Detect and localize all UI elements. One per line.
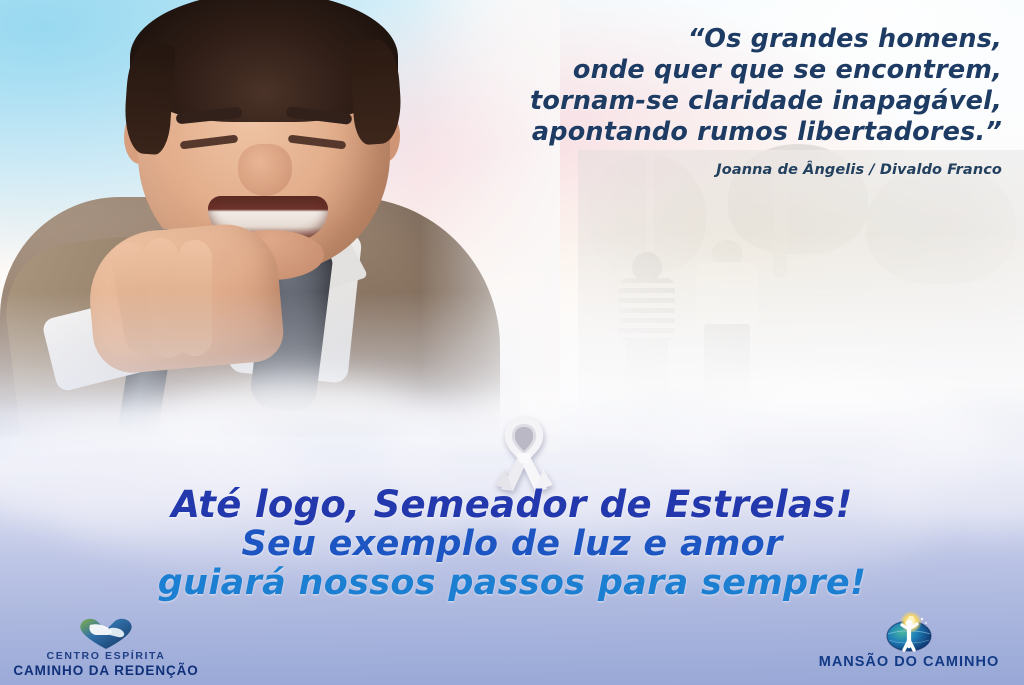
heart-hands-icon xyxy=(77,616,135,650)
tribute-message: Até logo, Semeador de Estrelas! Seu exem… xyxy=(0,485,1024,603)
logo-centro-espirita[interactable]: CENTRO ESPÍRITA CAMINHO DA REDENÇÃO xyxy=(8,616,204,679)
globe-figure-icon xyxy=(882,610,936,654)
quote-line-1: “Os grandes homens, xyxy=(312,24,1002,55)
message-line-3: guiará nossos passos para sempre! xyxy=(0,563,1024,603)
quote-block: “Os grandes homens, onde quer que se enc… xyxy=(312,24,1002,178)
message-line-1: Até logo, Semeador de Estrelas! xyxy=(0,485,1024,525)
quote-line-2: onde quer que se encontrem, xyxy=(312,55,1002,86)
white-ribbon-icon xyxy=(487,409,561,491)
logo-right-line-1: MANSÃO DO CAMINHO xyxy=(804,654,1014,670)
logo-left-line-2: CAMINHO DA REDENÇÃO xyxy=(8,663,204,679)
logo-left-line-1: CENTRO ESPÍRITA xyxy=(8,650,204,663)
quote-line-3: tornam-se claridade inapagável, xyxy=(312,86,1002,117)
message-line-2: Seu exemplo de luz e amor xyxy=(0,525,1024,563)
quote-attribution: Joanna de Ângelis / Divaldo Franco xyxy=(312,162,1002,178)
logo-mansao-do-caminho[interactable]: MANSÃO DO CAMINHO xyxy=(804,610,1014,670)
memorial-poster: “Os grandes homens, onde quer que se enc… xyxy=(0,0,1024,685)
quote-line-4: apontando rumos libertadores.” xyxy=(312,117,1002,148)
